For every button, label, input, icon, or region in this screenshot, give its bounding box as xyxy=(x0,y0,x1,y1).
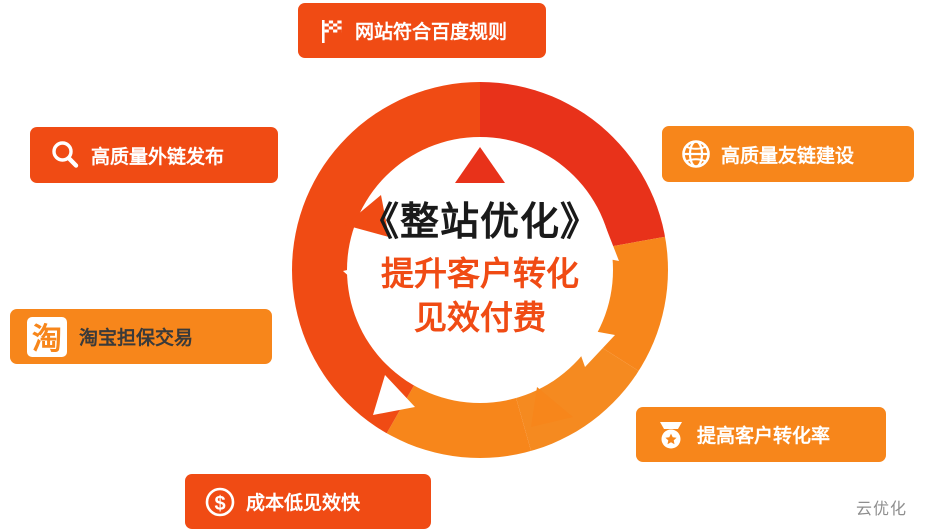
node-top[interactable]: 网站符合百度规则 xyxy=(298,3,546,58)
svg-text:$: $ xyxy=(214,493,225,515)
search-icon xyxy=(48,138,82,172)
dollar-coin-icon: $ xyxy=(203,485,237,519)
checkered-flag-icon xyxy=(316,16,346,46)
node-right-bottom-label: 提高客户转化率 xyxy=(697,421,830,448)
diagram-canvas: 《整站优化》 提升客户转化 见效付费 xyxy=(0,0,925,529)
cycle-ring: 《整站优化》 提升客户转化 见效付费 xyxy=(285,75,675,465)
svg-text:淘: 淘 xyxy=(32,323,62,356)
node-right-top-label: 高质量友链建设 xyxy=(721,141,854,168)
node-left-top-label: 高质量外链发布 xyxy=(91,142,224,169)
ring-segments xyxy=(285,75,675,465)
ring-segment-5 xyxy=(285,75,480,270)
node-bottom-label: 成本低见效快 xyxy=(246,488,360,515)
ring-graphic xyxy=(285,75,675,465)
node-right-top[interactable]: 高质量友链建设 xyxy=(662,126,914,182)
taobao-icon: 淘 xyxy=(24,315,70,359)
node-left-bottom-label: 淘宝担保交易 xyxy=(79,323,193,350)
watermark: 云优化 xyxy=(856,495,907,519)
node-bottom[interactable]: $ 成本低见效快 xyxy=(185,474,431,529)
medal-icon xyxy=(654,418,688,452)
node-right-bottom[interactable]: 提高客户转化率 xyxy=(636,407,886,462)
globe-icon xyxy=(680,138,712,170)
node-left-top[interactable]: 高质量外链发布 xyxy=(30,127,278,183)
node-top-label: 网站符合百度规则 xyxy=(355,17,507,44)
node-left-bottom[interactable]: 淘 淘宝担保交易 xyxy=(10,309,272,364)
